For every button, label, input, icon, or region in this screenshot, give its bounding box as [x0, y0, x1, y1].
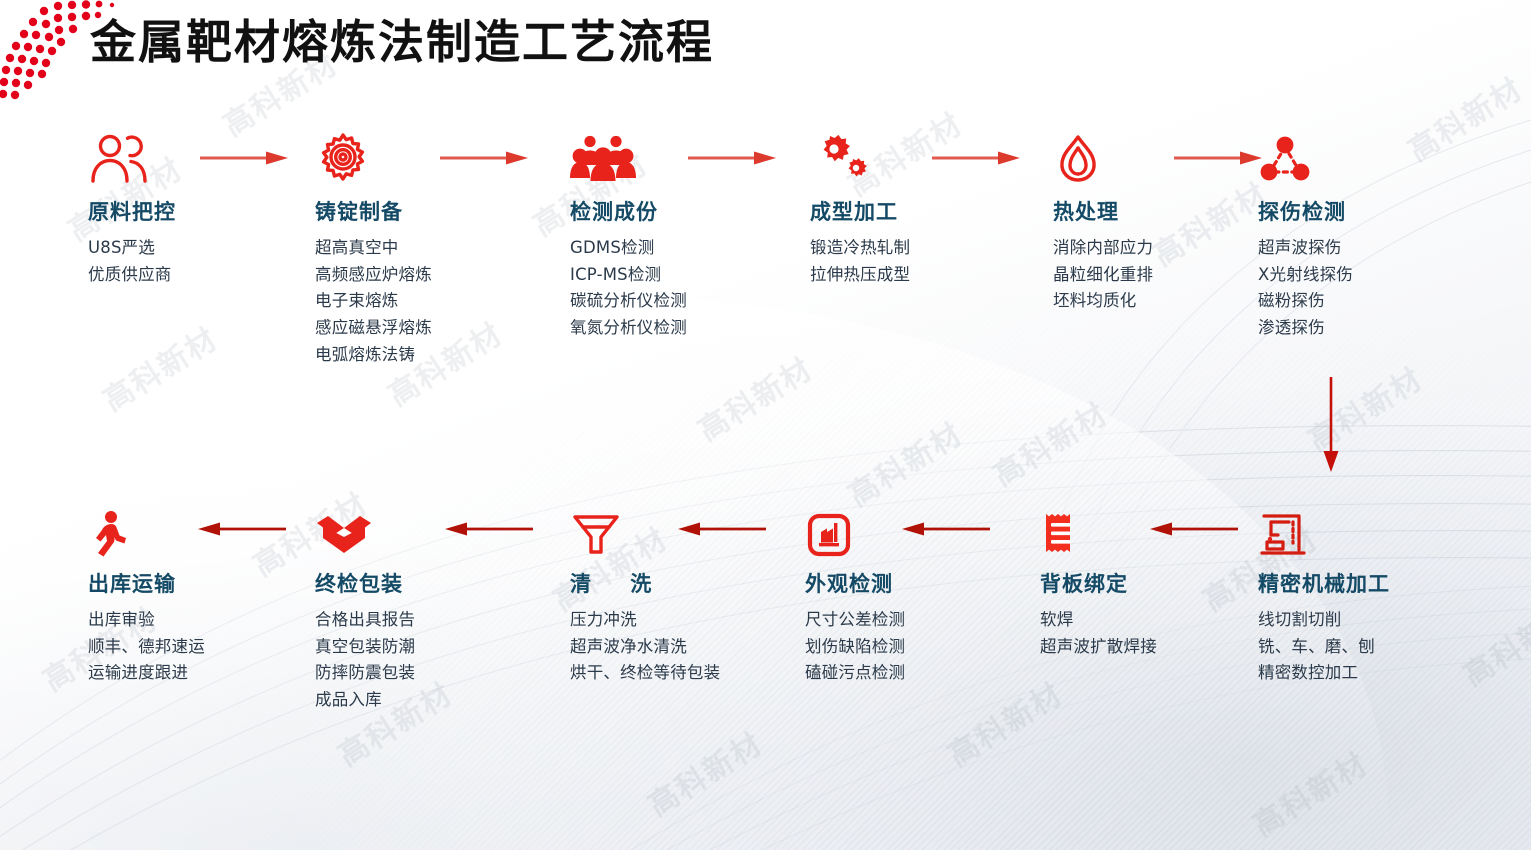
step-detail-line: 尺寸公差检测: [805, 607, 1035, 634]
step-title: 终检包装: [315, 568, 545, 598]
step-detail-line: 真空包装防潮: [315, 634, 545, 661]
step-detail-line: 渗透探伤: [1258, 315, 1488, 342]
two-gears-icon: [810, 128, 1040, 186]
step-detail-line: 压力冲洗: [570, 607, 738, 634]
step-detail-line: 锻造冷热轧制: [810, 235, 1040, 262]
step-detail-line: 超声波净水清洗: [570, 634, 738, 661]
walking-person-icon: [88, 500, 318, 558]
process-step-heat-treatment[interactable]: 热处理 消除内部应力 晶粒细化重排 坯料均质化: [1053, 128, 1283, 315]
process-step-appearance-inspection[interactable]: 外观检测 尺寸公差检测 划伤缺陷检测 磕碰污点检测: [805, 500, 1035, 687]
step-title: 精密机械加工: [1258, 568, 1488, 598]
step-detail-line: 防摔防震包装: [315, 660, 545, 687]
ticket-lines-icon: [1040, 500, 1270, 558]
step-detail-list: 合格出具报告 真空包装防潮 防摔防震包装 成品入库: [315, 607, 545, 714]
step-detail-line: 晶粒细化重排: [1053, 262, 1283, 289]
step-title: 出库运输: [88, 568, 318, 598]
step-detail-list: 超声波探伤 X光射线探伤 磁粉探伤 渗透探伤: [1258, 235, 1488, 342]
step-title: 背板绑定: [1040, 568, 1270, 598]
flame-icon: [1053, 128, 1283, 186]
step-detail-list: 超高真空中 高频感应炉熔炼 电子束熔炼 感应磁悬浮熔炼 电弧熔炼法铸: [315, 235, 545, 369]
process-step-precision-machining[interactable]: 精密机械加工 线切割切削 铣、车、磨、刨 精密数控加工: [1258, 500, 1488, 687]
step-title: 清 洗: [570, 568, 800, 598]
step-detail-line: 成品入库: [315, 687, 545, 714]
step-detail-line: 碳硫分析仪检测: [570, 288, 800, 315]
process-step-ingot-preparation[interactable]: 铸锭制备 超高真空中 高频感应炉熔炼 电子束熔炼 感应磁悬浮熔炼 电弧熔炼法铸: [315, 128, 545, 369]
cnc-machine-icon: [1258, 500, 1488, 558]
step-detail-line: 运输进度跟进: [88, 660, 318, 687]
step-detail-line: 线切割切削: [1258, 607, 1488, 634]
step-detail-list: 线切割切削 铣、车、磨、刨 精密数控加工: [1258, 607, 1488, 687]
process-step-outbound-shipping[interactable]: 出库运输 出库审验 顺丰、德邦速运 运输进度跟进: [88, 500, 318, 687]
process-step-flaw-detection[interactable]: 探伤检测 超声波探伤 X光射线探伤 磁粉探伤 渗透探伤: [1258, 128, 1488, 342]
step-detail-list: 软焊 超声波扩散焊接: [1040, 607, 1270, 660]
process-step-raw-material-control[interactable]: 原料把控 U8S严选 优质供应商: [88, 128, 318, 288]
step-detail-line: 磕碰污点检测: [805, 660, 1035, 687]
step-detail-line: X光射线探伤: [1258, 262, 1488, 289]
step-detail-list: 消除内部应力 晶粒细化重排 坯料均质化: [1053, 235, 1283, 315]
process-step-composition-testing[interactable]: 检测成份 GDMS检测 ICP-MS检测 碳硫分析仪检测 氧氮分析仪检测: [570, 128, 800, 342]
step-detail-list: U8S严选 优质供应商: [88, 235, 318, 288]
step-detail-line: 超声波扩散焊接: [1040, 634, 1270, 661]
step-detail-line: 烘干、终检等待包装: [570, 660, 738, 687]
step-title: 探伤检测: [1258, 196, 1488, 226]
step-detail-line: 精密数控加工: [1258, 660, 1488, 687]
step-detail-line: 消除内部应力: [1053, 235, 1283, 262]
flow-arrow-down-connector: [1322, 375, 1340, 475]
gear-concentric-icon: [315, 128, 545, 186]
step-detail-list: GDMS检测 ICP-MS检测 碳硫分析仪检测 氧氮分析仪检测: [570, 235, 800, 342]
step-detail-line: 软焊: [1040, 607, 1270, 634]
step-detail-line: 划伤缺陷检测: [805, 634, 1035, 661]
process-step-forming-processing[interactable]: 成型加工 锻造冷热轧制 拉伸热压成型: [810, 128, 1040, 288]
step-detail-list: 尺寸公差检测 划伤缺陷检测 磕碰污点检测: [805, 607, 1035, 687]
step-detail-line: 顺丰、德邦速运: [88, 634, 318, 661]
step-title: 成型加工: [810, 196, 1040, 226]
process-step-backplate-bonding[interactable]: 背板绑定 软焊 超声波扩散焊接: [1040, 500, 1270, 660]
process-step-cleaning[interactable]: 清 洗 压力冲洗 超声波净水清洗 烘干、终检等待包装: [570, 500, 800, 687]
step-title: 铸锭制备: [315, 196, 545, 226]
step-detail-line: 感应磁悬浮熔炼: [315, 315, 545, 342]
step-detail-line: 磁粉探伤: [1258, 288, 1488, 315]
step-detail-line: 高频感应炉熔炼: [315, 262, 545, 289]
step-detail-list: 压力冲洗 超声波净水清洗 烘干、终检等待包装: [570, 607, 738, 687]
step-detail-line: 合格出具报告: [315, 607, 545, 634]
two-people-icon: [88, 128, 318, 186]
step-detail-list: 出库审验 顺丰、德邦速运 运输进度跟进: [88, 607, 318, 687]
step-detail-line: GDMS检测: [570, 235, 800, 262]
step-title: 外观检测: [805, 568, 1035, 598]
step-detail-line: 优质供应商: [88, 262, 318, 289]
step-detail-line: 出库审验: [88, 607, 318, 634]
step-detail-line: U8S严选: [88, 235, 318, 262]
people-group-icon: [570, 128, 800, 186]
step-detail-line: 铣、车、磨、刨: [1258, 634, 1488, 661]
step-detail-line: 氧氮分析仪检测: [570, 315, 800, 342]
step-detail-line: 坯料均质化: [1053, 288, 1283, 315]
step-detail-line: 超高真空中: [315, 235, 545, 262]
step-detail-line: 电子束熔炼: [315, 288, 545, 315]
step-title: 热处理: [1053, 196, 1283, 226]
process-step-final-inspection-packaging[interactable]: 终检包装 合格出具报告 真空包装防潮 防摔防震包装 成品入库: [315, 500, 545, 714]
step-detail-list: 锻造冷热轧制 拉伸热压成型: [810, 235, 1040, 288]
process-flow-diagram: 原料把控 U8S严选 优质供应商 铸锭制备 超高真空中 高频感应炉熔炼 电: [0, 0, 1531, 850]
step-detail-line: 超声波探伤: [1258, 235, 1488, 262]
three-node-triangle-icon: [1258, 128, 1488, 186]
step-title: 检测成份: [570, 196, 800, 226]
funnel-icon: [570, 500, 800, 558]
step-detail-line: 电弧熔炼法铸: [315, 342, 545, 369]
open-box-icon: [315, 500, 545, 558]
factory-frame-icon: [805, 500, 1035, 558]
step-detail-line: ICP-MS检测: [570, 262, 800, 289]
step-detail-line: 拉伸热压成型: [810, 262, 1040, 289]
step-title: 原料把控: [88, 196, 318, 226]
